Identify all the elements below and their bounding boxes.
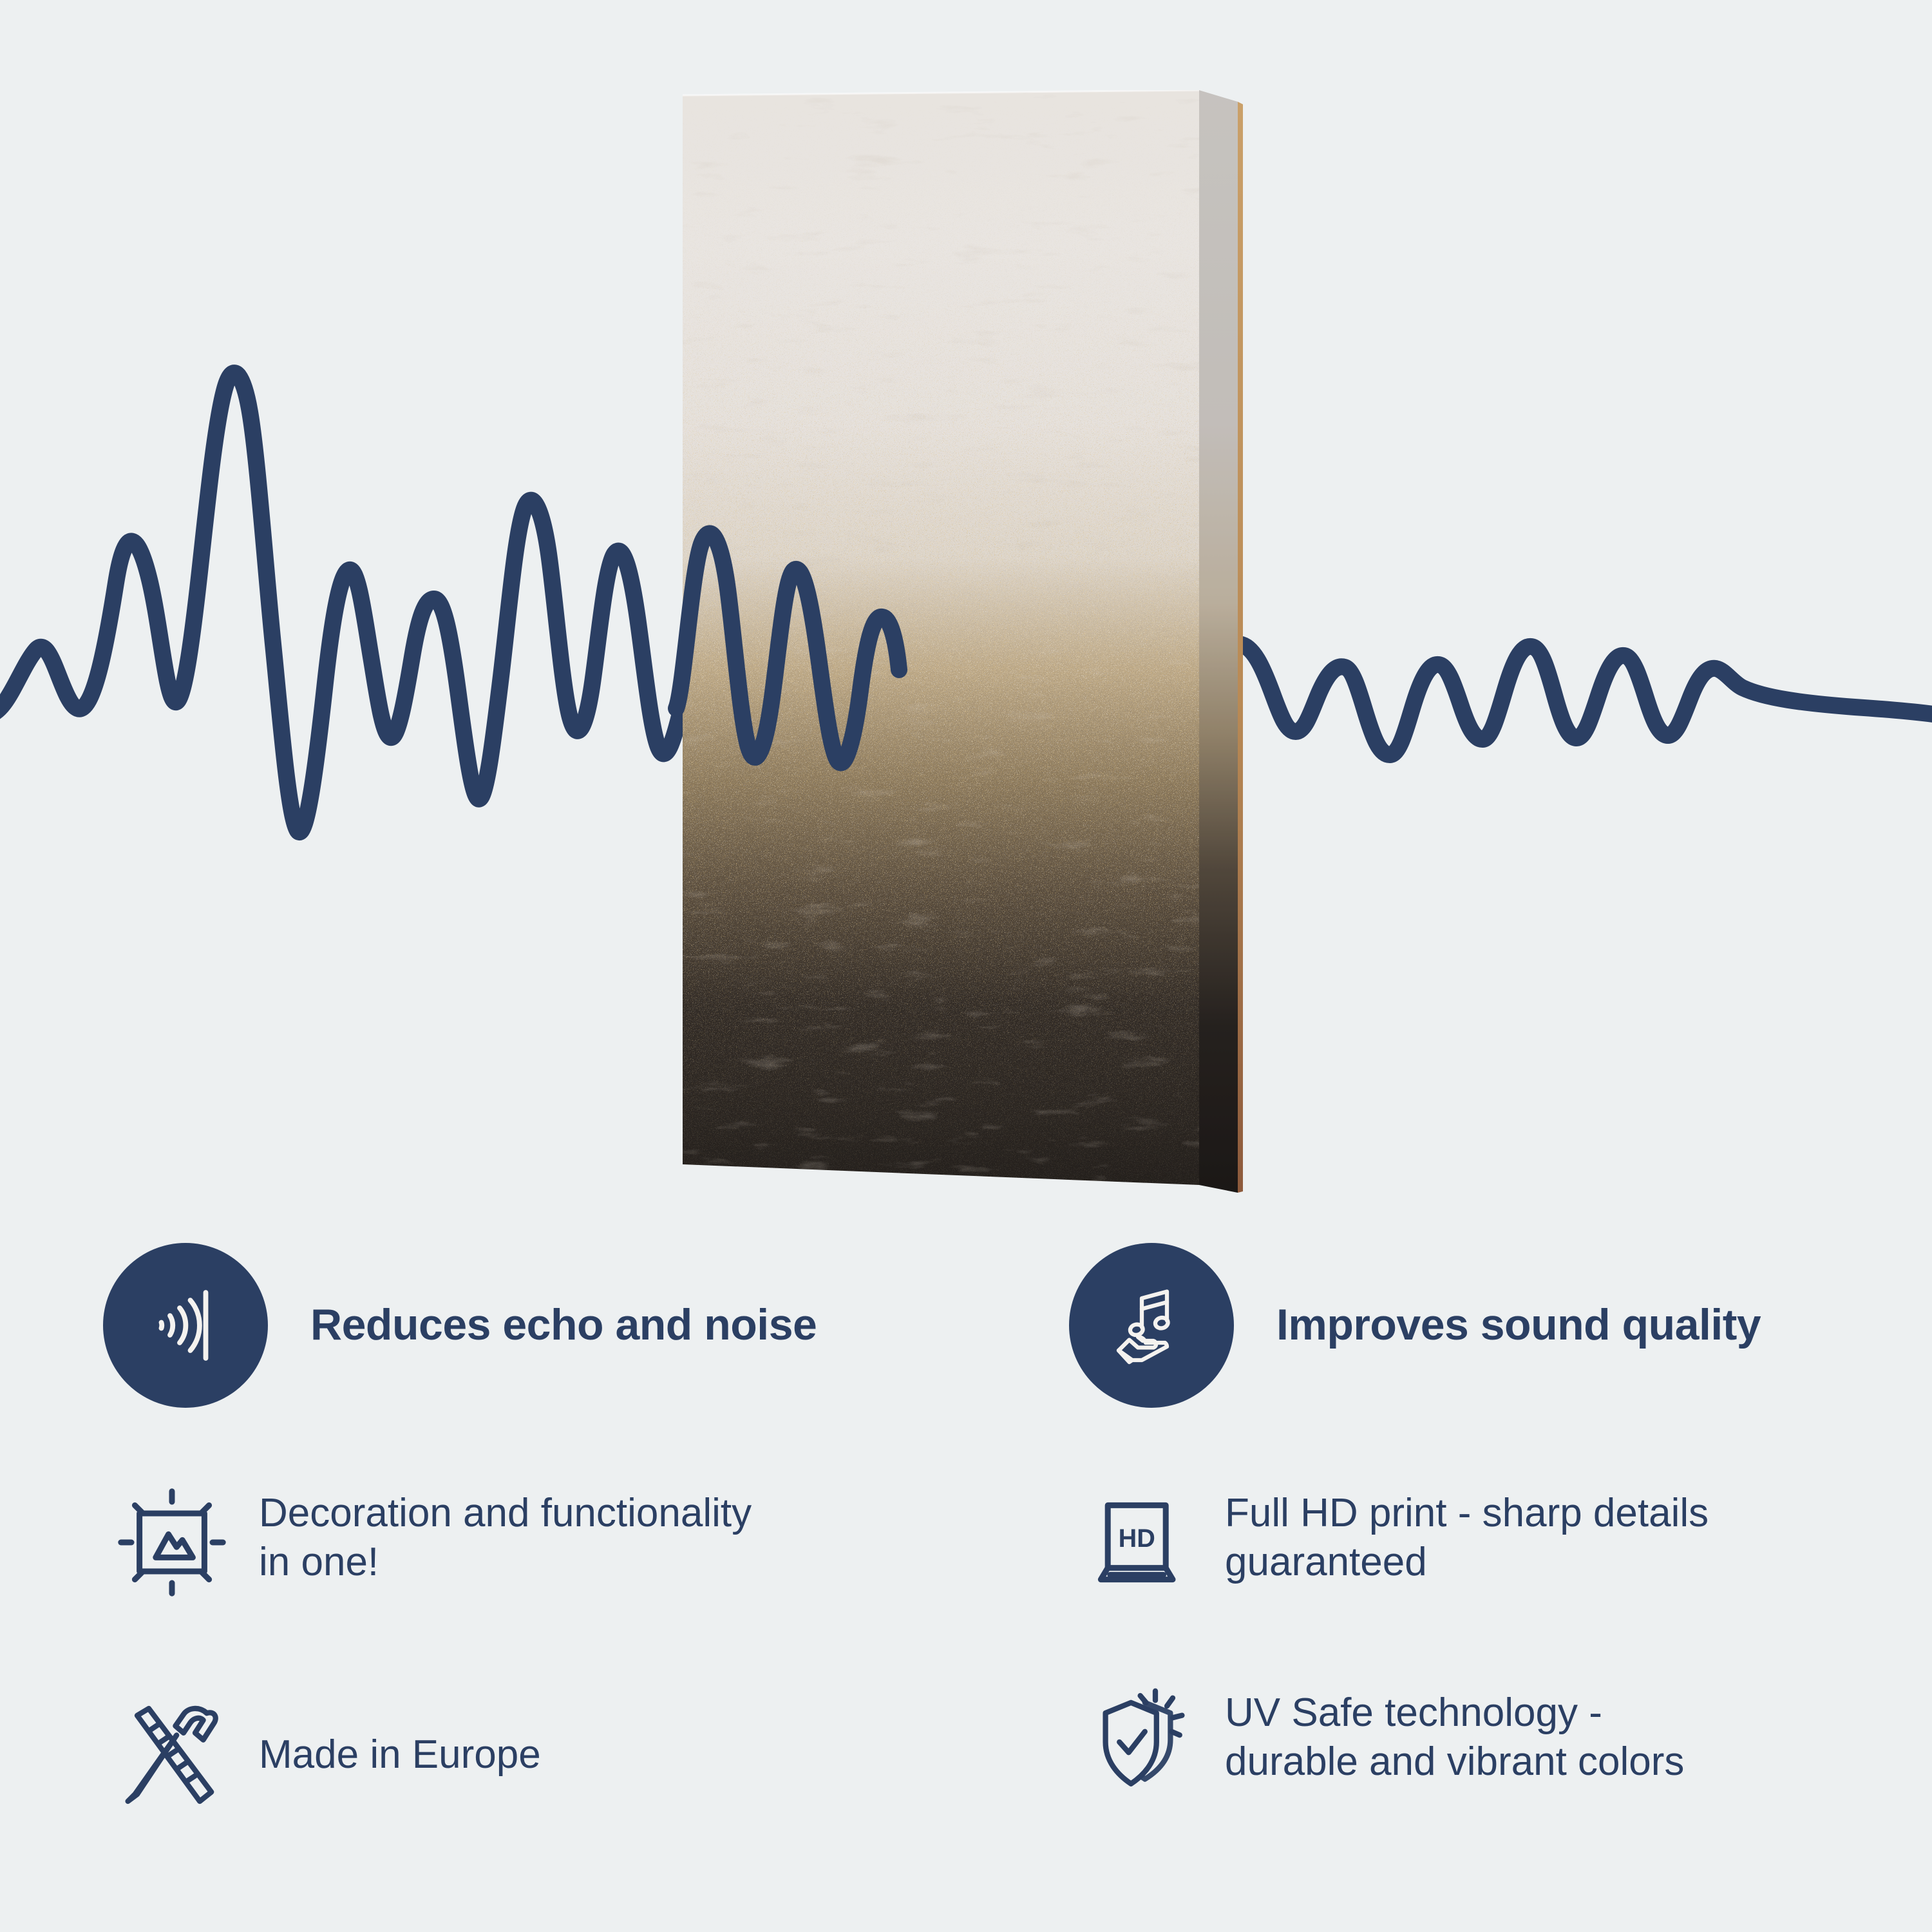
feature-label: Improves sound quality xyxy=(1276,1302,1761,1348)
feature-made-in-europe[interactable]: Made in Europe xyxy=(111,1694,541,1816)
shield-sun-icon xyxy=(1080,1684,1196,1800)
feature-reduces-echo[interactable]: Reduces echo and noise xyxy=(103,1243,817,1408)
feature-text-line2: in one! xyxy=(259,1540,379,1584)
shield-sun-icon-wrap xyxy=(1077,1681,1199,1803)
ruler-hammer-icon xyxy=(114,1697,230,1813)
hd-screen-icon-wrap: HD xyxy=(1077,1481,1199,1604)
feature-label: Reduces echo and noise xyxy=(310,1302,817,1348)
hero-section xyxy=(0,0,1932,1224)
feature-text-line1: Decoration and functionality xyxy=(259,1491,752,1535)
feature-full-hd-print[interactable]: HD Full HD print - sharp details guarant… xyxy=(1077,1481,1709,1604)
features-section: Reduces echo and noise Improves sound qu… xyxy=(0,1224,1932,1932)
feature-text: Decoration and functionality in one! xyxy=(259,1489,752,1586)
feature-text-line2: guaranteed xyxy=(1225,1540,1427,1584)
feature-decoration-functionality[interactable]: Decoration and functionality in one! xyxy=(111,1481,752,1604)
sound-waves-icon xyxy=(137,1277,234,1374)
feature-text-line2: durable and vibrant colors xyxy=(1225,1739,1684,1784)
framed-picture-icon-wrap xyxy=(111,1481,233,1604)
framed-picture-icon xyxy=(114,1484,230,1600)
feature-text-line1: Full HD print - sharp details xyxy=(1225,1491,1709,1535)
sound-waves-badge xyxy=(103,1243,268,1408)
music-in-hand-badge xyxy=(1069,1243,1234,1408)
hd-screen-icon: HD xyxy=(1080,1484,1196,1600)
ruler-hammer-icon-wrap xyxy=(111,1694,233,1816)
feature-text: Full HD print - sharp details guaranteed xyxy=(1225,1489,1709,1586)
music-in-hand-icon xyxy=(1103,1277,1200,1374)
sound-waveform-overlay xyxy=(0,0,1932,1224)
feature-improves-sound[interactable]: Improves sound quality xyxy=(1069,1243,1761,1408)
feature-text: UV Safe technology - durable and vibrant… xyxy=(1225,1689,1684,1786)
feature-text: Made in Europe xyxy=(259,1730,541,1779)
hd-label: HD xyxy=(1119,1524,1155,1553)
feature-uv-safe[interactable]: UV Safe technology - durable and vibrant… xyxy=(1077,1681,1684,1803)
feature-text-line1: Made in Europe xyxy=(259,1732,541,1777)
feature-text-line1: UV Safe technology - xyxy=(1225,1690,1602,1735)
infographic-root: Reduces echo and noise Improves sound qu… xyxy=(0,0,1932,1932)
